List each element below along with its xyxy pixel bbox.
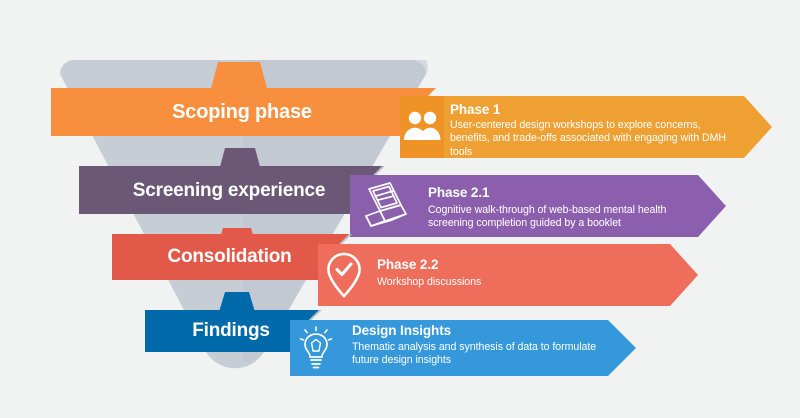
phase-text-2: Phase 2.1 Cognitive walk-through of web-… — [428, 185, 703, 231]
phase-text-4: Design Insights Thematic analysis and sy… — [352, 323, 602, 368]
phase-desc-4: Thematic analysis and synthesis of data … — [352, 341, 602, 369]
phase-title-3: Phase 2.2 — [377, 257, 657, 273]
stage-label-scoping: Scoping phase — [51, 101, 433, 124]
phase-desc-2: Cognitive walk-through of web-based ment… — [428, 204, 703, 232]
phase-title-1: Phase 1 — [450, 102, 740, 118]
phase-text-1: Phase 1 User-centered design workshops t… — [450, 102, 740, 160]
stage-label-screening: Screening experience — [79, 180, 379, 202]
phase-title-4: Design Insights — [352, 323, 602, 339]
phase-title-2: Phase 2.1 — [428, 185, 703, 201]
phase-desc-3: Workshop discussions — [377, 276, 657, 290]
notch-orange — [209, 62, 269, 96]
funnel-infographic: Scoping phase Screening experience Conso… — [0, 0, 800, 418]
phase-text-3: Phase 2.2 Workshop discussions — [377, 257, 657, 289]
stage-label-consolidation: Consolidation — [112, 246, 347, 268]
phase-desc-1: User-centered design workshops to explor… — [450, 119, 740, 161]
stage-label-findings: Findings — [145, 320, 317, 342]
